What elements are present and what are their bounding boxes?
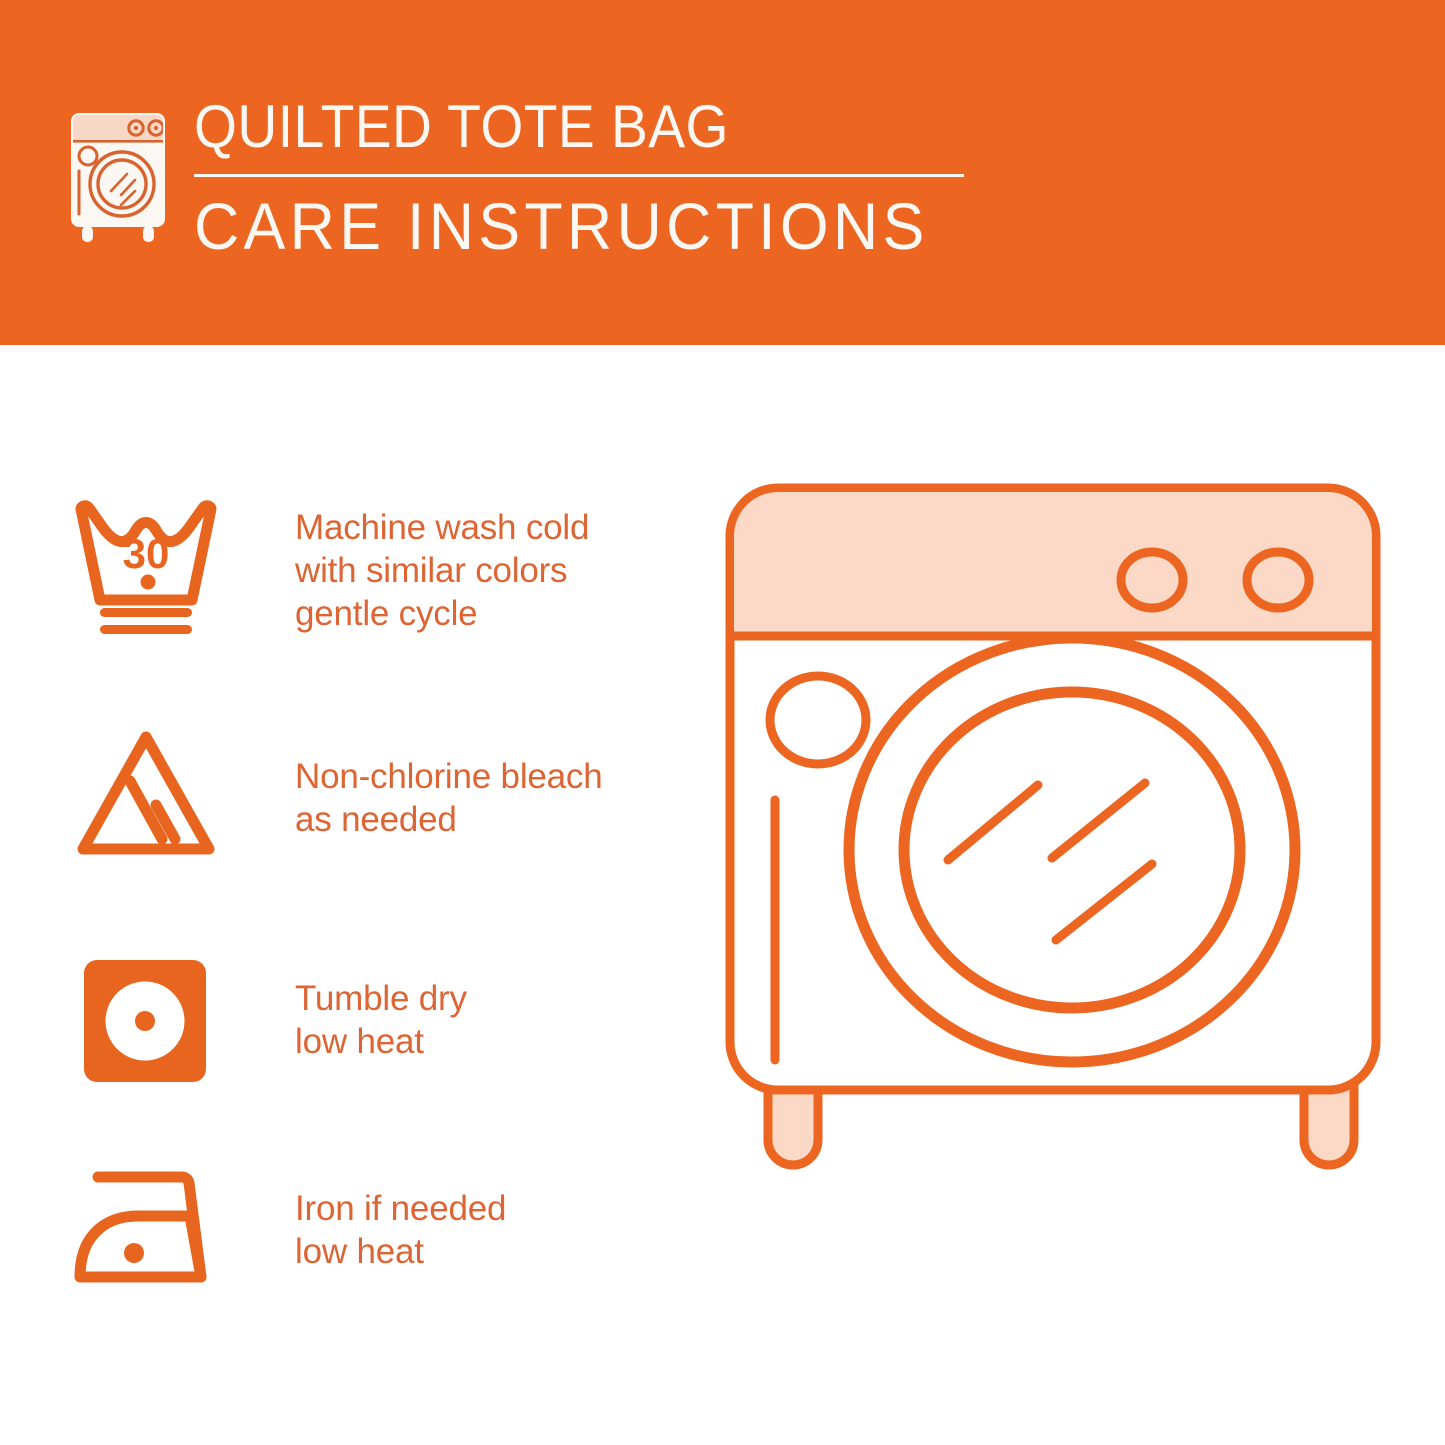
header-titles: QUILTED TOTE BAG CARE INSTRUCTIONS [194, 96, 967, 260]
care-text-bleach: Non-chlorine bleach as needed [295, 755, 603, 841]
wash-temp-label: 30 [123, 530, 170, 577]
front-load-washing-machine-illustration [700, 460, 1400, 1380]
header-content: QUILTED TOTE BAG CARE INSTRUCTIONS [64, 96, 967, 260]
non-chlorine-bleach-triangle-icon [70, 723, 230, 873]
care-text-line: gentle cycle [295, 592, 589, 635]
care-text-line: with similar colors [295, 549, 589, 592]
care-text-line: Non-chlorine bleach [295, 755, 603, 798]
care-row-tumble-dry: Tumble dry low heat [70, 945, 690, 1095]
care-instruction-list: 30 Machine wash cold with similar colors… [0, 345, 700, 1445]
control-panel [734, 492, 1372, 636]
tumble-dry-icon [70, 945, 230, 1095]
iron-icon [70, 1155, 230, 1305]
machine-wash-tub-icon: 30 [70, 495, 230, 645]
care-text-line: Iron if needed [295, 1187, 506, 1230]
care-text-tumble-dry: Tumble dry low heat [295, 977, 467, 1063]
washing-machine-icon [64, 96, 172, 246]
care-text-line: low heat [295, 1020, 467, 1063]
care-text-wash: Machine wash cold with similar colors ge… [295, 506, 589, 635]
care-text-line: Tumble dry [295, 977, 467, 1020]
title-divider [194, 174, 964, 177]
care-text-line: as needed [295, 798, 603, 841]
care-row-wash: 30 Machine wash cold with similar colors… [70, 495, 690, 645]
care-row-iron: Iron if needed low heat [70, 1155, 690, 1305]
care-row-bleach: Non-chlorine bleach as needed [70, 723, 690, 873]
care-text-iron: Iron if needed low heat [295, 1187, 506, 1273]
product-title: QUILTED TOTE BAG [194, 96, 729, 158]
header-banner: QUILTED TOTE BAG CARE INSTRUCTIONS [0, 0, 1445, 345]
care-text-line: low heat [295, 1230, 506, 1273]
care-text-line: Machine wash cold [295, 506, 589, 549]
page-title: CARE INSTRUCTIONS [194, 192, 929, 260]
